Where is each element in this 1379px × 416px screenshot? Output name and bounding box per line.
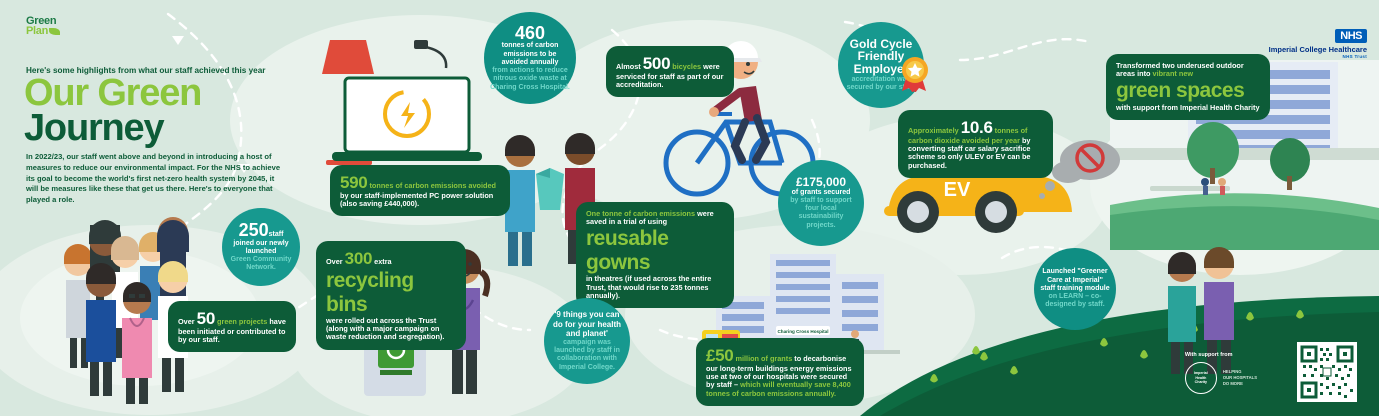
stat-highlight: on LEARN – co-designed by staff. — [1040, 293, 1110, 310]
stat-highlight: from actions to reduce nitrous oxide was… — [490, 67, 570, 92]
stat-value: 50 — [197, 309, 215, 328]
imperial-health-charity-logo: Imperial Health Charity — [1185, 362, 1217, 394]
stat-highlight: bicycles — [672, 62, 701, 71]
stat-headline: '9 things you can do for your health and… — [550, 310, 624, 339]
svg-text:Charing Cross Hospital: Charing Cross Hospital — [777, 329, 828, 334]
award-rosette-icon — [898, 56, 932, 92]
stat-value: 250 — [239, 220, 269, 240]
stat-nitrous-oxide: 460 tonnes of carbon emissions to be avo… — [484, 12, 576, 104]
laptop-illustration — [332, 78, 482, 161]
stat-reusable-gowns: One tonne of carbon emissions were saved… — [576, 202, 734, 308]
stat-rest: in theatres (if used across the entire T… — [586, 274, 711, 299]
nhs-trust-name: Imperial College Healthcare — [1269, 45, 1367, 54]
stat-line-2: joined our newly launched — [228, 240, 294, 257]
stat-recycling-bins: Over 300 extra recycling bins were rolle… — [316, 241, 466, 350]
stat-value: £50 — [706, 346, 733, 365]
charity-tag-3: DO MORE — [1223, 381, 1257, 387]
title-line-2: Journey — [24, 111, 201, 146]
stat-training-module: Launched "Greener Care at Imperial" staf… — [1034, 248, 1116, 330]
stat-value: 300 — [345, 249, 372, 268]
stat-nine-things: '9 things you can do for your health and… — [544, 298, 630, 384]
stat-value: 500 — [643, 54, 670, 73]
stat-rest: were rolled out across the Trust (along … — [326, 316, 444, 341]
stat-highlight: tonnes of carbon emissions avoided — [370, 181, 497, 190]
support-label: With support from — [1185, 352, 1257, 358]
stat-highlight: million of grants — [736, 354, 793, 363]
stat-bicycles: Almost 500 bicycles were serviced for st… — [606, 46, 734, 97]
leaf-icon — [49, 28, 60, 35]
stat-value: 590 — [340, 173, 367, 192]
stat-lead-2: extra — [374, 257, 391, 266]
stat-highlight: vibrant new — [1153, 69, 1194, 78]
nhs-trust-logo: NHS Imperial College Healthcare NHS Trus… — [1269, 26, 1367, 59]
stat-rest: with support from Imperial Health Charit… — [1116, 103, 1260, 112]
intro-paragraph: In 2022/23, our staff went above and bey… — [26, 152, 288, 206]
stat-rest: campaign was launched by staff in collab… — [550, 339, 624, 372]
stat-unit: staff — [269, 231, 284, 238]
svg-text:EV: EV — [944, 179, 971, 201]
green-plan-logo: Green Plan — [26, 16, 60, 37]
plug-icon — [414, 40, 428, 49]
logo-line-2: Plan — [26, 26, 60, 36]
stat-lead: Almost — [616, 62, 641, 71]
stat-grants-local: £175,000 of grants secured by staff to s… — [778, 160, 864, 246]
stat-value: £175,000 — [796, 176, 846, 189]
stat-value: 10.6 — [961, 118, 993, 137]
nhs-mark: NHS — [1335, 29, 1367, 43]
stat-lead: Over — [326, 257, 343, 266]
stat-headline: recycling bins — [326, 269, 456, 316]
stat-line-1: of grants secured — [792, 189, 851, 197]
stat-headline: green spaces — [1116, 79, 1260, 103]
charity-line-3: Charity — [1195, 380, 1207, 384]
stat-line-1: tonnes of carbon emissions to be avoided… — [490, 42, 570, 67]
stat-highlight: green projects — [217, 317, 267, 326]
stat-green-projects: Over 50 green projects have been initiat… — [168, 301, 296, 352]
park-illustration — [1110, 122, 1379, 250]
stat-decarbonise-grants: £50 million of grants to decarbonise our… — [696, 338, 864, 406]
stat-green-spaces: Transformed two underused outdoor areas … — [1106, 54, 1270, 120]
stat-staff-network: 250staff joined our newly launched Green… — [222, 208, 300, 286]
infographic-poster: EV — [0, 0, 1379, 416]
nhs-trust-sub: NHS Trust — [1269, 54, 1367, 59]
stat-ev-scheme: Approximately 10.6 tonnes of carbon diox… — [898, 110, 1053, 178]
stat-lead: Approximately — [908, 126, 959, 135]
qr-code-icon[interactable] — [1297, 342, 1357, 402]
stat-value: 460 — [515, 24, 545, 42]
stat-lead: Over — [178, 317, 195, 326]
stat-highlight: Green Community Network. — [228, 256, 294, 273]
stat-highlight: by staff to support four local sustainab… — [784, 197, 858, 230]
charity-tagline: HELPING OUR HOSPITALS DO MORE — [1223, 369, 1257, 388]
title-line-1: Our Green — [24, 76, 201, 111]
desk-lamp-icon — [316, 40, 380, 165]
page-title: Our Green Journey — [24, 76, 201, 146]
stat-rest: by our staff-implemented PC power soluti… — [340, 191, 493, 208]
stat-pc-power: 590 tonnes of carbon emissions avoided b… — [330, 165, 510, 216]
stat-line-1: Launched "Greener Care at Imperial" staf… — [1040, 268, 1110, 293]
stat-headline: reusable gowns — [586, 227, 724, 274]
support-credit: With support from Imperial Health Charit… — [1185, 352, 1257, 394]
